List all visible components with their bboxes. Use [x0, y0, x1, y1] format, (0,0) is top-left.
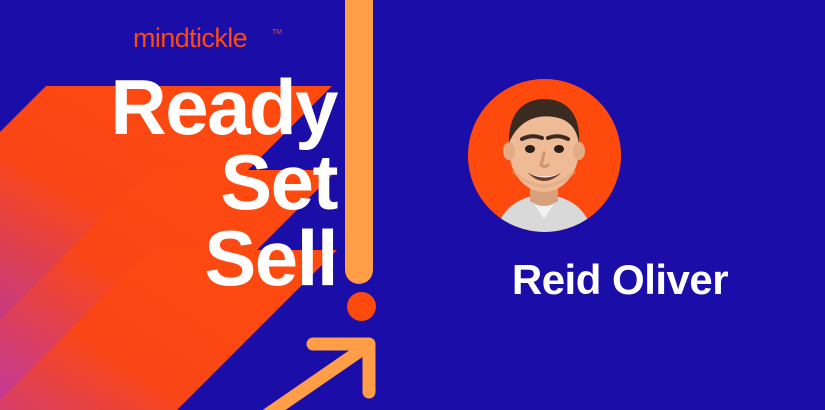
svg-text:TM: TM [272, 29, 282, 36]
svg-text:mindtickle: mindtickle [133, 23, 247, 53]
growth-arrow-icon [255, 330, 390, 410]
avatar [468, 79, 621, 232]
promo-banner: mindtickle TM Ready Set Sell [0, 0, 825, 410]
mindtickle-logo: mindtickle TM [133, 22, 285, 54]
page-title: Ready Set Sell [0, 70, 337, 296]
speaker-name: Reid Oliver [440, 258, 800, 302]
exclamation-bar-icon [345, 0, 373, 284]
exclamation-dot-icon [347, 292, 376, 321]
